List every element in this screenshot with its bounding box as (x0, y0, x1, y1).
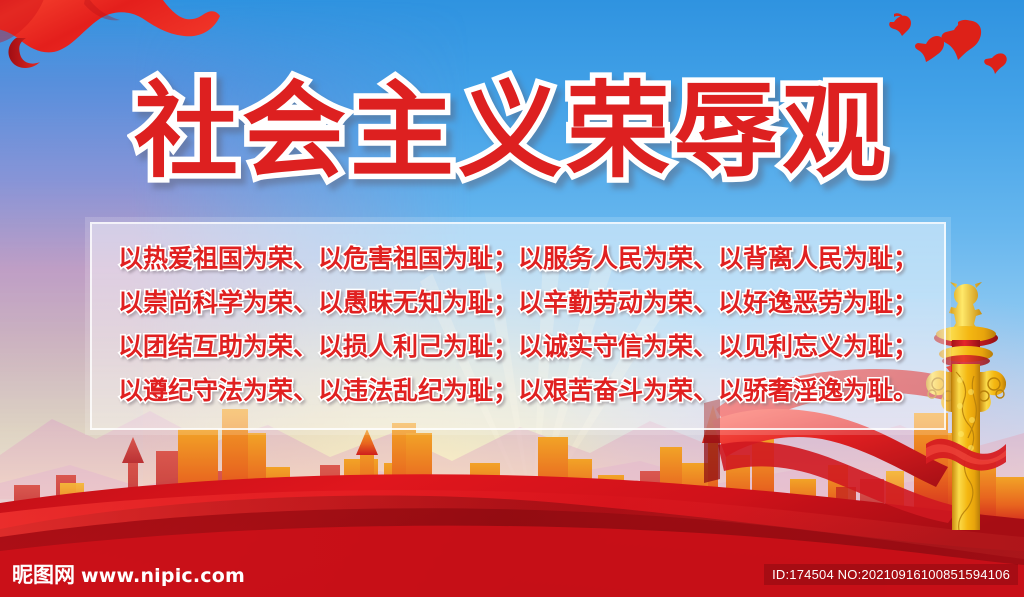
slogan-line-2: 以崇尚科学为荣、以愚昧无知为耻；以辛勤劳动为荣、以好逸恶劳为耻； (118, 281, 918, 325)
slogan-panel: 以热爱祖国为荣、以危害祖国为耻；以服务人民为荣、以背离人民为耻； 以崇尚科学为荣… (90, 222, 946, 430)
nipic-url: www.nipic.com (81, 565, 245, 587)
poster-canvas: 社会主义荣辱观 以热爱祖国为荣、以危害祖国为耻；以服务人民为荣、以背离人民为耻；… (0, 0, 1024, 597)
flying-birds-icon (868, 8, 1018, 88)
footer-branding: 昵图网 www.nipic.com (12, 559, 245, 589)
slogan-line-1: 以热爱祖国为荣、以危害祖国为耻；以服务人民为荣、以背离人民为耻； (118, 237, 918, 281)
red-flag-icon (0, 0, 220, 108)
slogan-list: 以热爱祖国为荣、以危害祖国为耻；以服务人民为荣、以背离人民为耻； 以崇尚科学为荣… (92, 224, 944, 428)
nipic-logo: 昵图网 (12, 559, 75, 589)
slogan-line-3: 以团结互助为荣、以损人利己为耻；以诚实守信为荣、以见利忘义为耻； (118, 325, 918, 369)
slogan-line-4: 以遵纪守法为荣、以违法乱纪为耻；以艰苦奋斗为荣、以骄奢淫逸为耻。 (118, 369, 918, 413)
asset-id-label: ID:174504 NO:20210916100851594106 (764, 564, 1018, 585)
